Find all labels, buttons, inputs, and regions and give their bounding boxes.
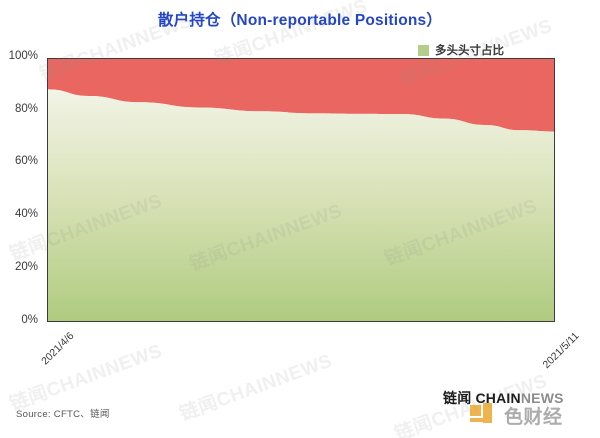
overlay-brand-text: 色财经: [504, 402, 563, 429]
chart-title: 散户持仓（Non-reportable Positions）: [0, 8, 600, 30]
legend-label-long: 多头头寸占比: [435, 42, 504, 58]
brand-logo-cn: 链闻: [443, 390, 471, 406]
watermark-en: CHAINNEWS: [214, 351, 336, 412]
y-tick-label: 100%: [9, 50, 38, 62]
y-tick-label: 20%: [15, 261, 38, 273]
x-tick-end: 2021/5/11: [525, 330, 582, 387]
source-note: Source: CFTC、链闻: [16, 406, 110, 420]
watermark-cn: 链闻: [177, 392, 221, 425]
watermark-text: 链闻CHAINNEWS: [175, 346, 335, 426]
overlay-brand-watermark: 色财经: [470, 402, 563, 429]
legend-swatch-long: [418, 45, 429, 56]
y-tick-label: 60%: [15, 155, 38, 167]
chart-legend: 多头头寸占比: [418, 42, 504, 58]
y-tick-label: 80%: [15, 103, 38, 115]
y-tick-label: 40%: [15, 208, 38, 220]
watermark-cn: 链闻: [392, 412, 436, 438]
y-tick-label: 0%: [21, 314, 38, 326]
x-tick-start: 2021/4/6: [20, 330, 77, 387]
area-chart-svg: [48, 59, 555, 322]
plot-area: [47, 58, 555, 322]
orange-square-logo-icon: [470, 403, 500, 429]
